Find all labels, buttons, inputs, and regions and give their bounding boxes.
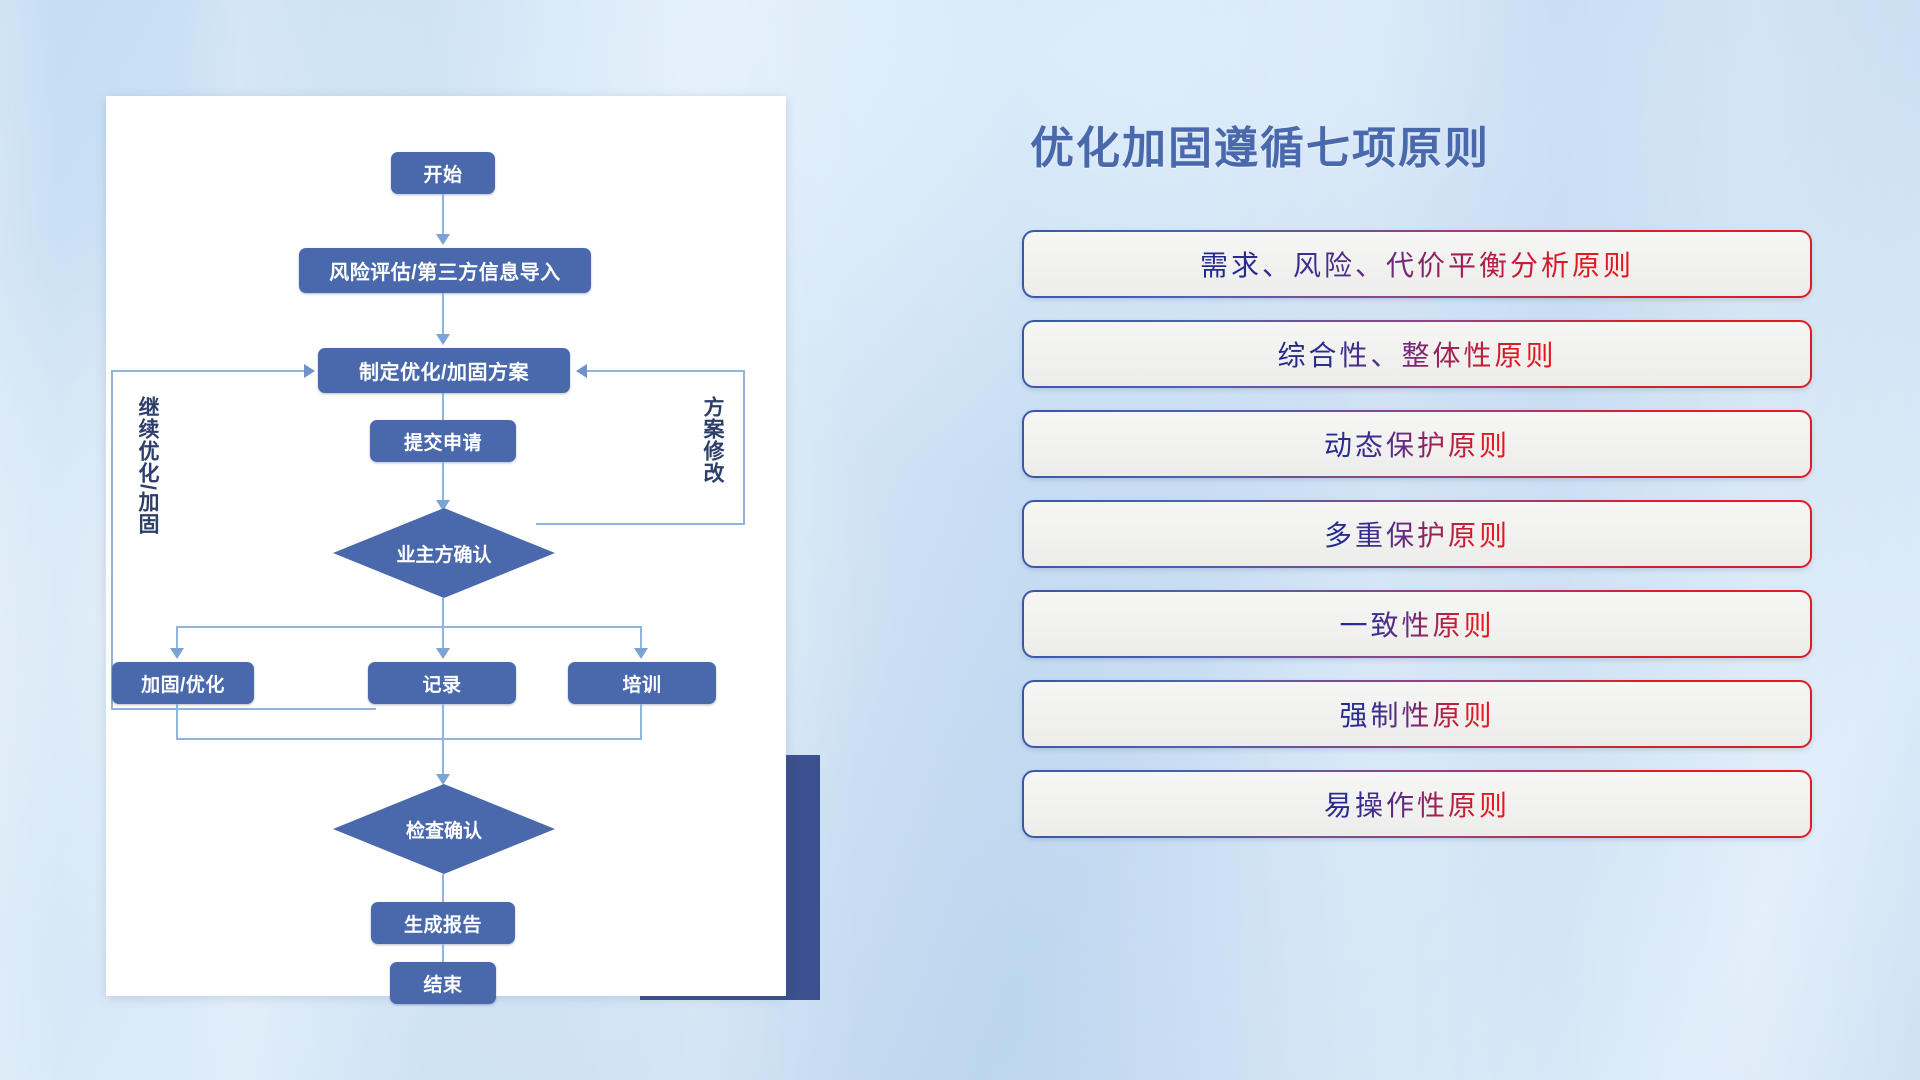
- flow-node-risk-assessment-label: 风险评估/第三方信息导入: [329, 256, 561, 285]
- arrow-risk-to-plan-icon: [436, 334, 450, 345]
- edge-reinforce-down: [176, 704, 178, 740]
- flow-node-training[interactable]: 培训: [568, 662, 716, 704]
- principle-item[interactable]: 强制性原则: [1022, 680, 1812, 748]
- flow-node-end[interactable]: 结束: [390, 962, 496, 1004]
- arrow-branch-to-record-icon: [436, 648, 450, 659]
- flow-node-reinforce-optimize[interactable]: 加固/优化: [112, 662, 254, 704]
- flow-node-submit-application-label: 提交申请: [404, 428, 482, 455]
- principle-item-inner: 多重保护原则: [1024, 502, 1810, 566]
- flow-node-start-label: 开始: [423, 160, 462, 187]
- flow-node-generate-report-label: 生成报告: [404, 910, 482, 937]
- principle-item-label: 综合性、整体性原则: [1277, 334, 1556, 374]
- edge-training-down: [640, 704, 642, 740]
- principle-item-inner: 需求、风险、代价平衡分析原则: [1024, 232, 1810, 296]
- principle-item-inner: 综合性、整体性原则: [1024, 322, 1810, 386]
- flow-node-end-label: 结束: [423, 970, 462, 997]
- flow-node-record-label: 记录: [422, 670, 461, 697]
- flow-node-training-label: 培训: [622, 670, 661, 697]
- principle-item-inner: 一致性原则: [1024, 592, 1810, 656]
- flow-node-make-plan[interactable]: 制定优化/加固方案: [318, 348, 570, 393]
- principle-item[interactable]: 多重保护原则: [1022, 500, 1812, 568]
- flow-decision-check-confirm[interactable]: 检查确认: [333, 784, 555, 874]
- principle-item-label: 强制性原则: [1339, 694, 1494, 734]
- flow-node-reinforce-optimize-label: 加固/优化: [141, 670, 225, 697]
- edge-loop-right-bottom: [536, 523, 745, 525]
- flow-node-risk-assessment[interactable]: 风险评估/第三方信息导入: [299, 248, 591, 293]
- principle-item-label: 一致性原则: [1339, 604, 1494, 644]
- flow-node-make-plan-label: 制定优化/加固方案: [359, 356, 529, 385]
- edge-loop-left-vertical: [111, 370, 113, 710]
- edge-label-plan-revision: 方案修改: [701, 396, 723, 506]
- principle-item[interactable]: 一致性原则: [1022, 590, 1812, 658]
- flow-decision-check-confirm-label: 检查确认: [406, 816, 482, 843]
- principle-item-label: 动态保护原则: [1324, 424, 1510, 464]
- arrow-start-to-risk-icon: [436, 234, 450, 245]
- principle-item-label: 易操作性原则: [1324, 784, 1510, 824]
- edge-loop-left-bottom: [111, 708, 376, 710]
- arrow-branch-to-reinforce-icon: [170, 648, 184, 659]
- arrow-merge-to-check-icon: [436, 774, 450, 785]
- edge-label-continue-optimize: 继续优化/加固: [136, 396, 158, 546]
- principle-item[interactable]: 动态保护原则: [1022, 410, 1812, 478]
- flowchart-canvas: 开始 风险评估/第三方信息导入 制定优化/加固方案 继续优化/加固 方案修改 提…: [106, 96, 786, 996]
- edge-merge-bus: [176, 738, 642, 740]
- flowchart-card: 开始 风险评估/第三方信息导入 制定优化/加固方案 继续优化/加固 方案修改 提…: [106, 96, 786, 996]
- principle-item[interactable]: 易操作性原则: [1022, 770, 1812, 838]
- arrow-loop-right-into-plan-icon: [576, 364, 587, 378]
- flow-node-record[interactable]: 记录: [368, 662, 516, 704]
- edge-owner-down-stub: [442, 598, 444, 628]
- edge-loop-right-top: [587, 370, 745, 372]
- edge-branch-bus: [176, 626, 642, 628]
- flow-node-submit-application[interactable]: 提交申请: [370, 420, 516, 462]
- principle-item-label: 多重保护原则: [1324, 514, 1510, 554]
- arrow-branch-to-training-icon: [634, 648, 648, 659]
- flow-decision-owner-confirm-label: 业主方确认: [396, 540, 491, 567]
- principle-item-inner: 易操作性原则: [1024, 772, 1810, 836]
- right-panel-title: 优化加固遵循七项原则: [1030, 112, 1730, 176]
- flow-decision-owner-confirm[interactable]: 业主方确认: [333, 508, 555, 598]
- flow-node-generate-report[interactable]: 生成报告: [371, 902, 515, 944]
- principles-list: 需求、风险、代价平衡分析原则 综合性、整体性原则 动态保护原则 多重保护原则 一…: [1022, 230, 1812, 860]
- edge-loop-right-vertical: [743, 370, 745, 525]
- principle-item-inner: 动态保护原则: [1024, 412, 1810, 476]
- edge-loop-left-top: [111, 370, 307, 372]
- arrow-loop-left-into-plan-icon: [304, 364, 315, 378]
- principle-item-inner: 强制性原则: [1024, 682, 1810, 746]
- principle-item[interactable]: 需求、风险、代价平衡分析原则: [1022, 230, 1812, 298]
- flow-node-start[interactable]: 开始: [391, 152, 495, 194]
- edge-record-to-check: [442, 704, 444, 782]
- principle-item[interactable]: 综合性、整体性原则: [1022, 320, 1812, 388]
- principle-item-label: 需求、风险、代价平衡分析原则: [1200, 244, 1634, 284]
